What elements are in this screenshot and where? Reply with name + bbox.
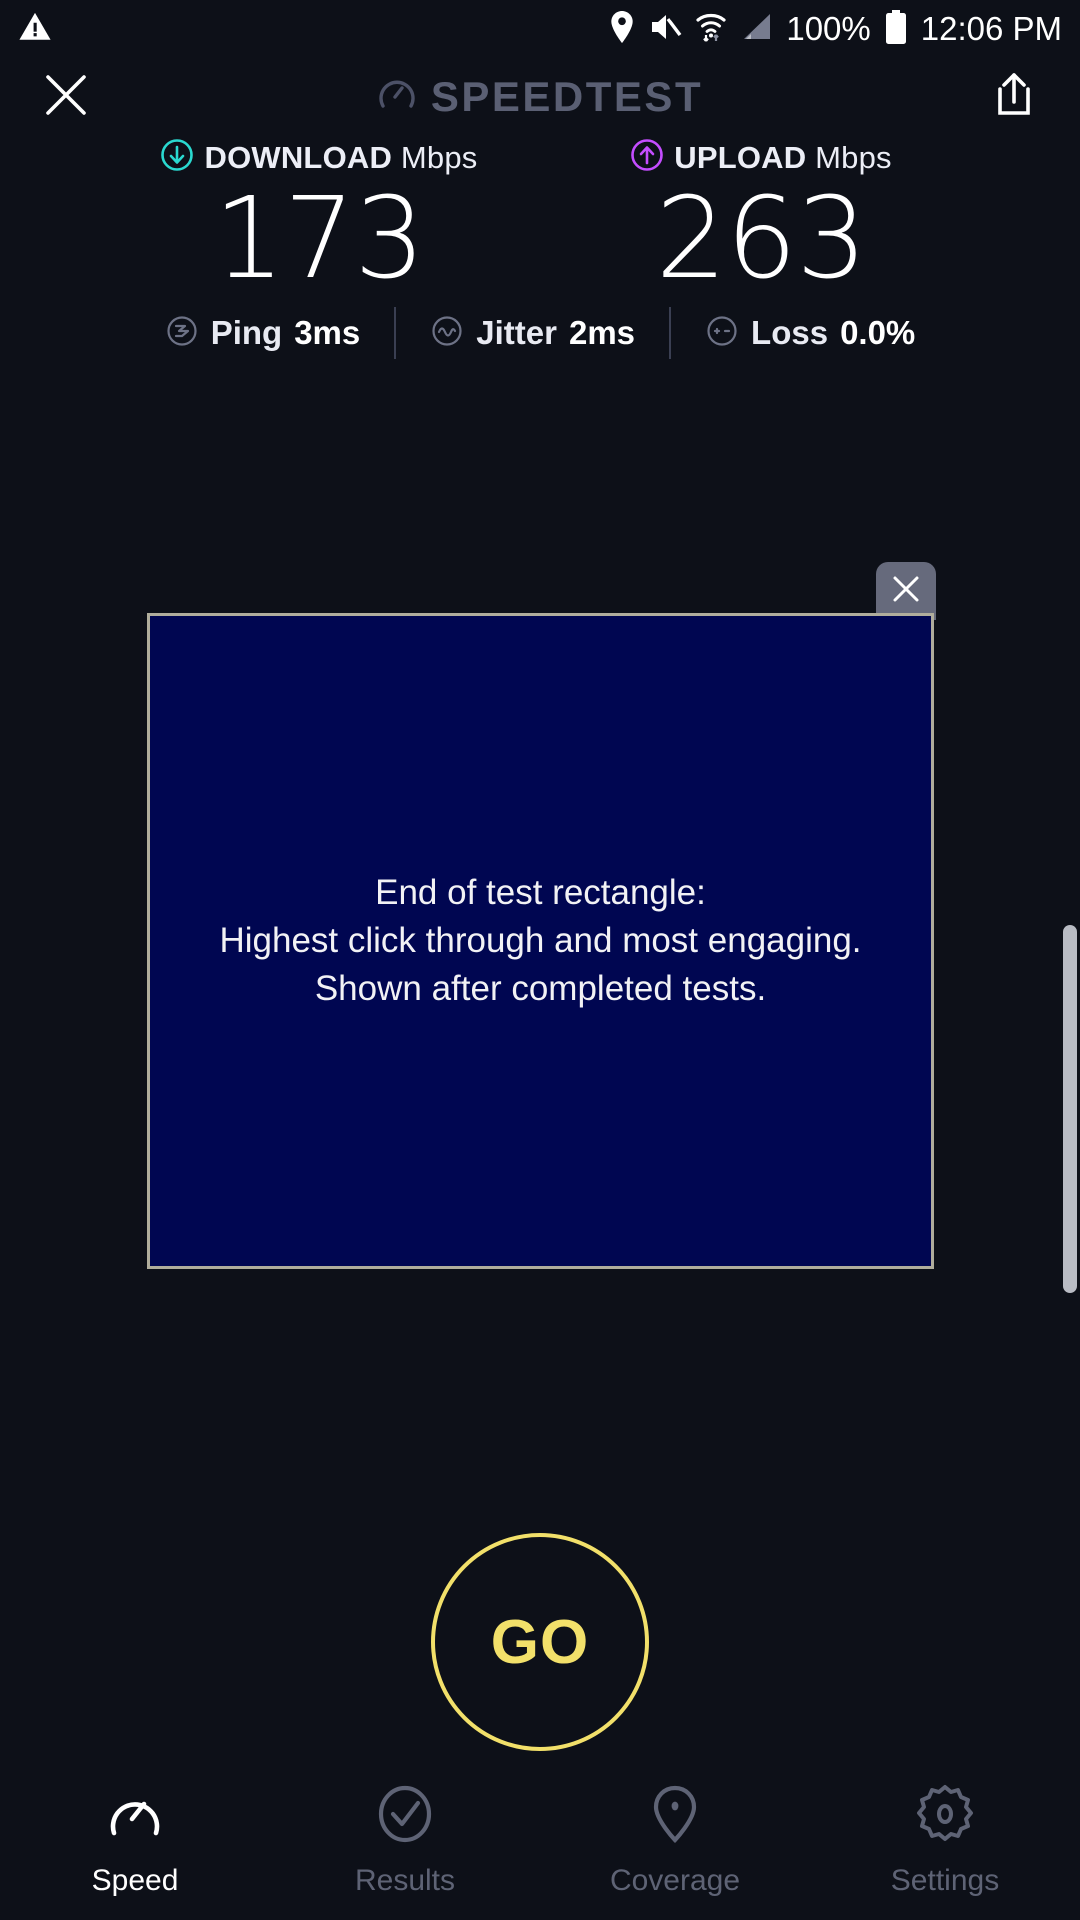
mute-icon [650,12,682,47]
advertisement-banner[interactable]: End of test rectangle: Highest click thr… [147,613,934,1269]
close-icon [43,72,89,123]
jitter-icon [430,314,464,353]
page-scrollbar[interactable] [1063,925,1077,1293]
metrics-row: Ping 3ms Jitter 2ms Loss 0.0% [0,298,1080,368]
status-bar-left [18,10,52,49]
download-label-row: DOWNLOAD Mbps [129,138,509,177]
go-button-label: GO [491,1607,589,1678]
nav-item-settings-label: Settings [891,1864,999,1898]
close-app-button[interactable] [36,67,96,127]
metric-jitter-label: Jitter [476,314,557,352]
speedometer-icon [104,1783,166,1850]
nav-item-speed[interactable]: Speed [0,1783,270,1898]
metric-jitter-value: 2ms [569,314,635,352]
metric-loss-label: Loss [751,314,828,352]
ad-close-button[interactable] [876,562,936,620]
speedometer-icon [377,75,417,120]
go-button[interactable]: GO [431,1533,649,1751]
metric-ping: Ping 3ms [131,314,395,353]
metric-loss: Loss 0.0% [671,314,949,353]
metric-jitter: Jitter 2ms [396,314,669,353]
download-value: 173 [129,181,509,299]
gear-icon [914,1783,976,1850]
nav-item-results-label: Results [355,1864,455,1898]
nav-item-settings[interactable]: Settings [810,1783,1080,1898]
loss-icon [705,314,739,353]
upload-arrow-icon [630,138,664,177]
share-upload-icon [992,71,1036,124]
ping-icon [165,314,199,353]
upload-label: UPLOAD Mbps [674,140,892,176]
download-label: DOWNLOAD Mbps [204,140,477,176]
nav-item-speed-label: Speed [92,1864,179,1898]
metric-loss-value: 0.0% [840,314,915,352]
speed-row: DOWNLOAD Mbps 173 UPLOAD Mbps 263 [0,138,1080,299]
nav-item-coverage[interactable]: Coverage [540,1783,810,1898]
app-header: SPEEDTEST [0,58,1080,136]
upload-label-row: UPLOAD Mbps [571,138,951,177]
bottom-nav: Speed Results Coverage Settings [0,1760,1080,1920]
wifi-icon [696,11,726,48]
close-icon [890,573,922,610]
upload-result: UPLOAD Mbps 263 [571,138,951,299]
warning-triangle-icon [18,10,52,49]
battery-full-icon [885,10,907,49]
upload-value: 263 [571,181,951,299]
brand-title: SPEEDTEST [431,73,703,121]
brand-wrap: SPEEDTEST [377,73,703,121]
metric-ping-value: 3ms [294,314,360,352]
share-button[interactable] [984,67,1044,127]
metric-ping-label: Ping [211,314,283,352]
check-circle-icon [374,1783,436,1850]
download-result: DOWNLOAD Mbps 173 [129,138,509,299]
cellular-signal-icon [740,12,772,47]
clock-label: 12:06 PM [921,10,1062,48]
download-arrow-icon [160,138,194,177]
location-pin-icon [608,11,636,48]
nav-item-coverage-label: Coverage [610,1864,740,1898]
map-pin-icon [644,1783,706,1850]
status-bar: 100% 12:06 PM [0,0,1080,58]
ad-text: End of test rectangle: Highest click thr… [207,869,873,1014]
battery-percent-label: 100% [786,10,870,48]
status-bar-right: 100% 12:06 PM [608,10,1062,49]
nav-item-results[interactable]: Results [270,1783,540,1898]
results-panel: DOWNLOAD Mbps 173 UPLOAD Mbps 263 [0,138,1080,299]
